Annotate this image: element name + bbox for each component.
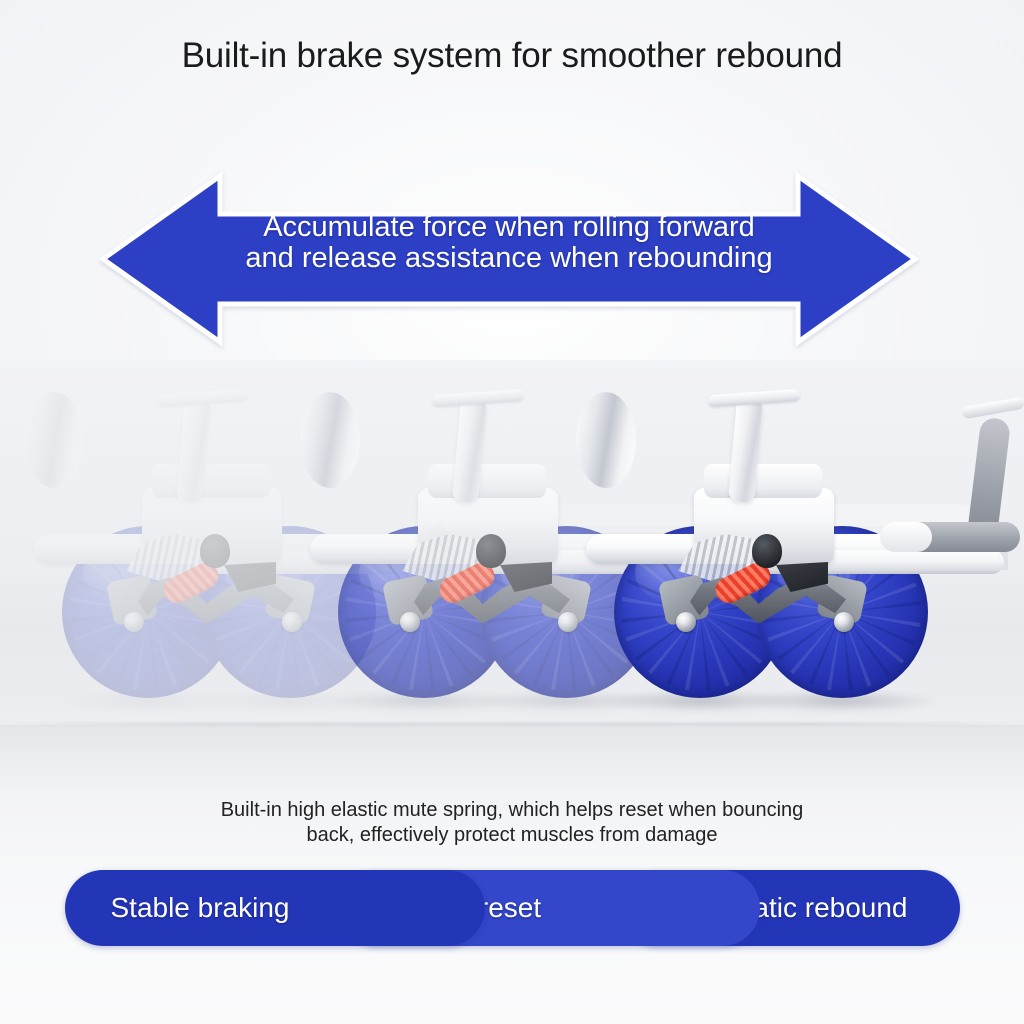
wheel-hub-cap — [24, 392, 84, 488]
handle-bar-right-edge — [900, 404, 1024, 584]
brake-pivot — [752, 534, 782, 568]
wheel-hub-cap — [576, 392, 636, 488]
feature-pill-stable-braking[interactable]: Stable braking — [65, 870, 485, 946]
caption-line-2: back, effectively protect muscles from d… — [0, 823, 1024, 848]
feature-pill-group: Stable braking Easy reset Automatic rebo… — [0, 870, 1024, 946]
handle-bar-vertical — [967, 417, 1011, 540]
brake-pivot — [476, 534, 506, 568]
caption-line-1: Built-in high elastic mute spring, which… — [0, 798, 1024, 823]
brake-bolt-right — [834, 612, 854, 632]
brake-bolt-left — [124, 612, 144, 632]
feature-caption: Built-in high elastic mute spring, which… — [0, 798, 1024, 848]
brake-mechanism — [392, 532, 592, 652]
brake-pivot — [200, 534, 230, 568]
page-title: Built-in brake system for smoother rebou… — [0, 36, 1024, 76]
brake-bolt-right — [558, 612, 578, 632]
brake-bolt-left — [676, 612, 696, 632]
center-housing-cap — [152, 464, 270, 498]
wheel-hub-cap — [300, 392, 360, 488]
handle-bar-white-sleeve — [880, 522, 932, 552]
product-scene — [0, 392, 1024, 737]
center-housing-cap — [428, 464, 546, 498]
brake-bolt-right — [282, 612, 302, 632]
center-housing-cap — [704, 464, 822, 498]
double-arrow-icon — [96, 166, 922, 352]
brake-mechanism — [668, 532, 868, 652]
double-arrow-banner: Accumulate force when rolling forward an… — [96, 166, 922, 352]
brake-mechanism — [116, 532, 316, 652]
infographic-page: Built-in brake system for smoother rebou… — [0, 0, 1024, 1024]
brake-bolt-left — [400, 612, 420, 632]
